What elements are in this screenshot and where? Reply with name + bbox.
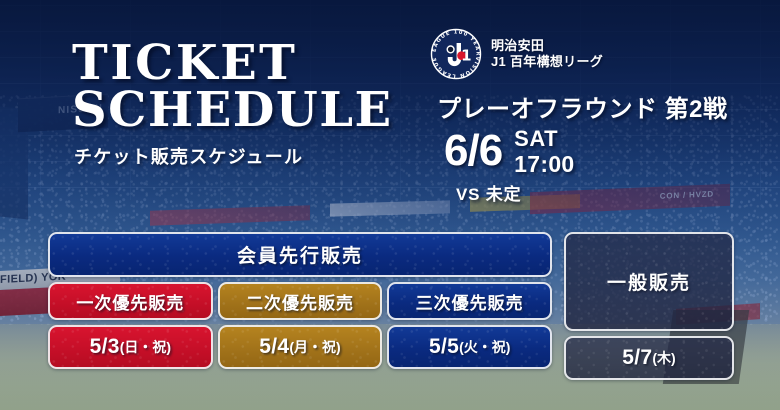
page-title: TICKET SCHEDULE チケット販売スケジュール [72, 40, 393, 169]
member-presale-header[interactable]: 会員先行販売 [48, 232, 552, 277]
tier-2-date-suffix: (月・祝) [289, 337, 340, 357]
league-name: J1 百年構想リーグ [491, 54, 603, 69]
tier-1-label[interactable]: 一次優先販売 [48, 282, 213, 320]
tier-3-date-value: 5/5 [429, 335, 459, 359]
title-subtitle: チケット販売スケジュール [74, 143, 393, 169]
general-sale-group: 一般販売 5/7 (木) [564, 232, 734, 380]
match-info-block: LEAGUE 100 YEAR VISION LEAGUE 1 明治安田 [430, 28, 750, 205]
tier-date-row: 5/3 (日・祝) 5/4 (月・祝) 5/5 (火・祝) [48, 325, 552, 369]
sponsor-name: 明治安田 [491, 38, 544, 53]
tier-3-label[interactable]: 三次優先販売 [387, 282, 552, 320]
tier-2-date-value: 5/4 [259, 335, 289, 359]
tier-label-row: 一次優先販売 二次優先販売 三次優先販売 [48, 282, 552, 320]
ticket-schedule-banner: TICKET SCHEDULE チケット販売スケジュール LE [0, 0, 780, 410]
match-round-label: プレーオフラウンド 第2戦 [437, 89, 750, 124]
tier-1-date[interactable]: 5/3 (日・祝) [48, 325, 213, 369]
banner-header: TICKET SCHEDULE チケット販売スケジュール LE [0, 0, 780, 225]
tier-2-label[interactable]: 二次優先販売 [218, 282, 383, 320]
match-opponent: VS 未定 [456, 180, 750, 205]
league-name-text: 明治安田 J1 百年構想リーグ [491, 38, 603, 70]
tier-3-date-suffix: (火・祝) [459, 337, 510, 357]
j1-league-emblem-icon: LEAGUE 100 YEAR VISION LEAGUE 1 [430, 28, 482, 80]
general-sale-date-value: 5/7 [622, 346, 652, 370]
match-day-of-week: SAT [514, 126, 558, 151]
match-kickoff-time: 17:00 [514, 153, 574, 176]
member-presale-group: 会員先行販売 一次優先販売 二次優先販売 三次優先販売 5/3 (日・祝) 5/… [48, 232, 552, 380]
tier-1-date-suffix: (日・祝) [120, 337, 171, 357]
match-day-time: SAT 17:00 [514, 126, 574, 176]
general-sale-label[interactable]: 一般販売 [564, 232, 734, 331]
sales-schedule-table: 会員先行販売 一次優先販売 二次優先販売 三次優先販売 5/3 (日・祝) 5/… [48, 232, 734, 380]
match-date: 6/6 [444, 127, 502, 175]
match-date-row: 6/6 SAT 17:00 [444, 126, 750, 176]
tier-3-date[interactable]: 5/5 (火・祝) [387, 325, 552, 369]
title-line-2: SCHEDULE [72, 87, 393, 134]
title-heading: TICKET SCHEDULE [72, 40, 393, 134]
general-sale-date-suffix: (木) [652, 348, 675, 368]
general-sale-date[interactable]: 5/7 (木) [564, 336, 734, 380]
tier-1-date-value: 5/3 [90, 335, 120, 359]
svg-text:1: 1 [461, 47, 471, 65]
tier-2-date[interactable]: 5/4 (月・祝) [218, 325, 383, 369]
league-row: LEAGUE 100 YEAR VISION LEAGUE 1 明治安田 [430, 28, 750, 80]
